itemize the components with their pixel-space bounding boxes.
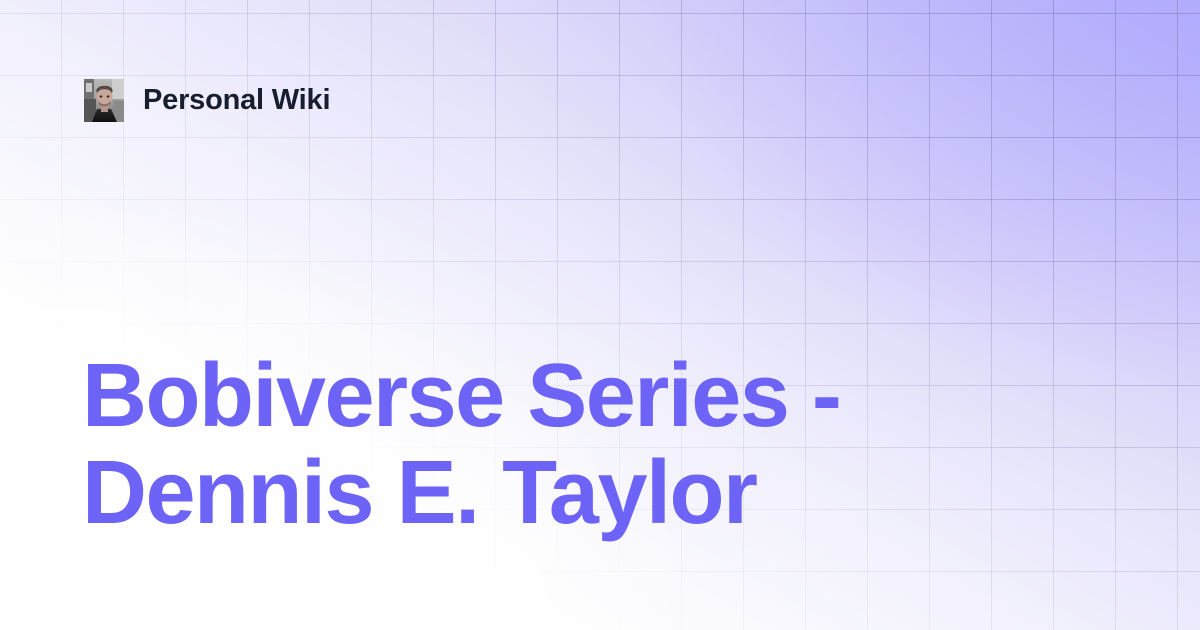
page-title-line-1: Bobiverse Series -: [82, 348, 1092, 445]
page-title: Bobiverse Series - Dennis E. Taylor: [82, 348, 1092, 542]
avatar-photo-icon: [84, 79, 124, 122]
og-preview-card: Personal Wiki Bobiverse Series - Dennis …: [0, 0, 1200, 630]
card-content: Personal Wiki Bobiverse Series - Dennis …: [0, 0, 1200, 630]
page-title-line-2: Dennis E. Taylor: [82, 445, 1092, 542]
brand-name-label: Personal Wiki: [143, 86, 330, 115]
brand-header: Personal Wiki: [84, 79, 330, 122]
